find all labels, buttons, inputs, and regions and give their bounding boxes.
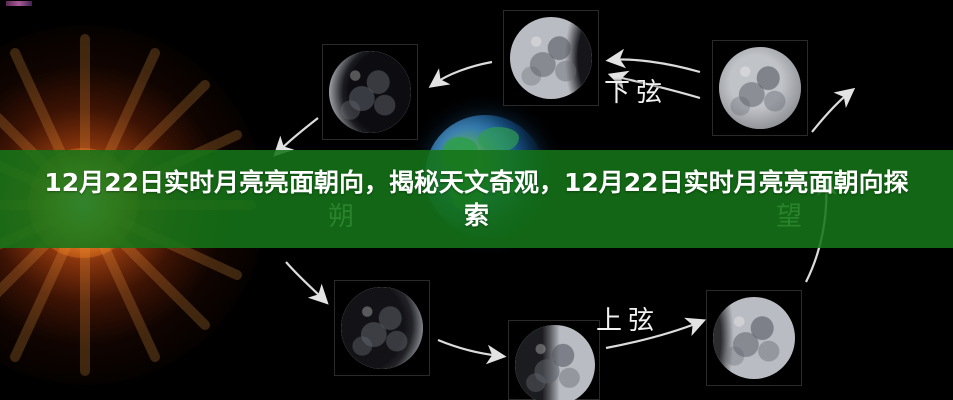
moon-waxing-gibbous xyxy=(713,297,795,379)
moon-first-quarter xyxy=(515,325,595,400)
moon-phase-diagram-image: 下弦 望 上弦 朔 12月22日实时月亮亮面朝向，揭秘天文奇观，12月22日实时… xyxy=(0,0,953,400)
moon-box-full-moon xyxy=(712,40,808,136)
moon-box-first-quarter xyxy=(508,320,600,400)
headline-text: 12月22日实时月亮亮面朝向，揭秘天文奇观，12月22日实时月亮亮面朝向探索 xyxy=(37,166,917,232)
moon-box-waxing-crescent xyxy=(334,280,430,376)
phase-label-first-quarter: 上弦 xyxy=(596,300,660,337)
moon-waning-crescent xyxy=(329,51,411,133)
moon-waning-gibbous xyxy=(510,17,592,99)
corner-artifact xyxy=(6,1,32,6)
headline-banner: 12月22日实时月亮亮面朝向，揭秘天文奇观，12月22日实时月亮亮面朝向探索 xyxy=(0,150,953,248)
moon-waxing-crescent xyxy=(341,287,423,369)
moon-box-waxing-gibbous xyxy=(706,290,802,386)
phase-label-last-quarter: 下弦 xyxy=(604,72,668,109)
moon-box-waning-crescent xyxy=(322,44,418,140)
moon-full xyxy=(719,47,801,129)
moon-box-waning-gibbous xyxy=(503,10,599,106)
